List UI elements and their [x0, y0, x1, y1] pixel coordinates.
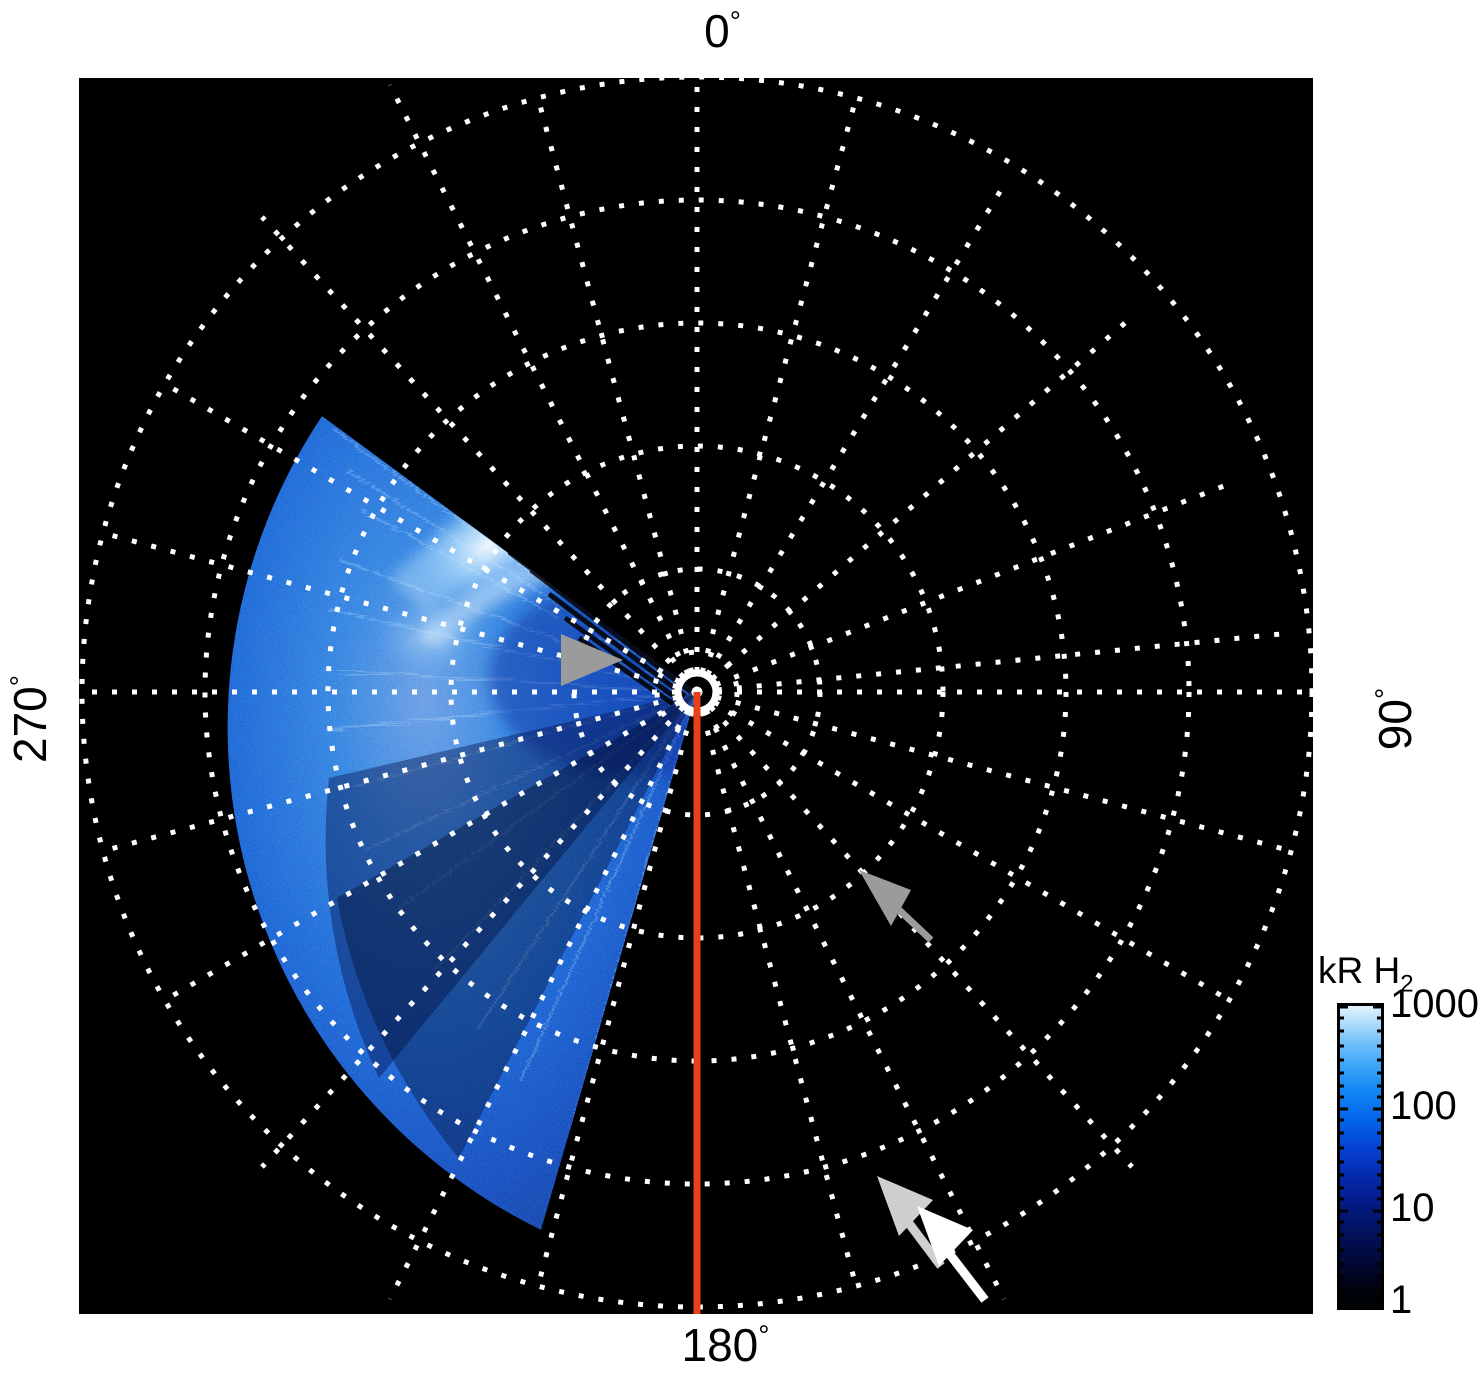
degree-symbol-0: °	[730, 6, 741, 37]
axis-label-0-value: 0	[704, 5, 730, 57]
bright-patch-left	[373, 598, 485, 678]
polar-plot-panel	[79, 78, 1313, 1314]
colorbar-tick-label-1000: 1000	[1390, 984, 1479, 1024]
degree-symbol-270: °	[5, 675, 36, 686]
colorbar-tick-label-100: 100	[1390, 1086, 1457, 1126]
degree-symbol-180: °	[758, 1320, 769, 1351]
polar-plot-canvas	[79, 78, 1313, 1314]
axis-label-270-value: 270	[4, 686, 56, 763]
colorbar-ticks	[1337, 1003, 1384, 1310]
colorbar-title-main: kR H	[1318, 950, 1400, 991]
colorbar-tick-label-1: 1	[1390, 1280, 1412, 1320]
colorbar-minor-ticks	[1337, 1007, 1384, 1301]
degree-symbol-90: °	[1370, 688, 1401, 699]
polar-aurora-figure: 0° 180° 270° 90° kR H2	[0, 0, 1481, 1386]
axis-label-0deg: 0°	[0, 8, 1481, 54]
axis-label-270deg: 270°	[7, 629, 53, 809]
axis-label-90deg: 90°	[1372, 629, 1418, 809]
axis-label-180deg: 180°	[0, 1322, 1481, 1368]
axis-label-90-value: 90	[1369, 699, 1421, 750]
colorbar: kR H2	[1318, 950, 1481, 1330]
colorbar-tick-label-10: 10	[1390, 1188, 1435, 1228]
axis-label-180-value: 180	[682, 1319, 759, 1371]
